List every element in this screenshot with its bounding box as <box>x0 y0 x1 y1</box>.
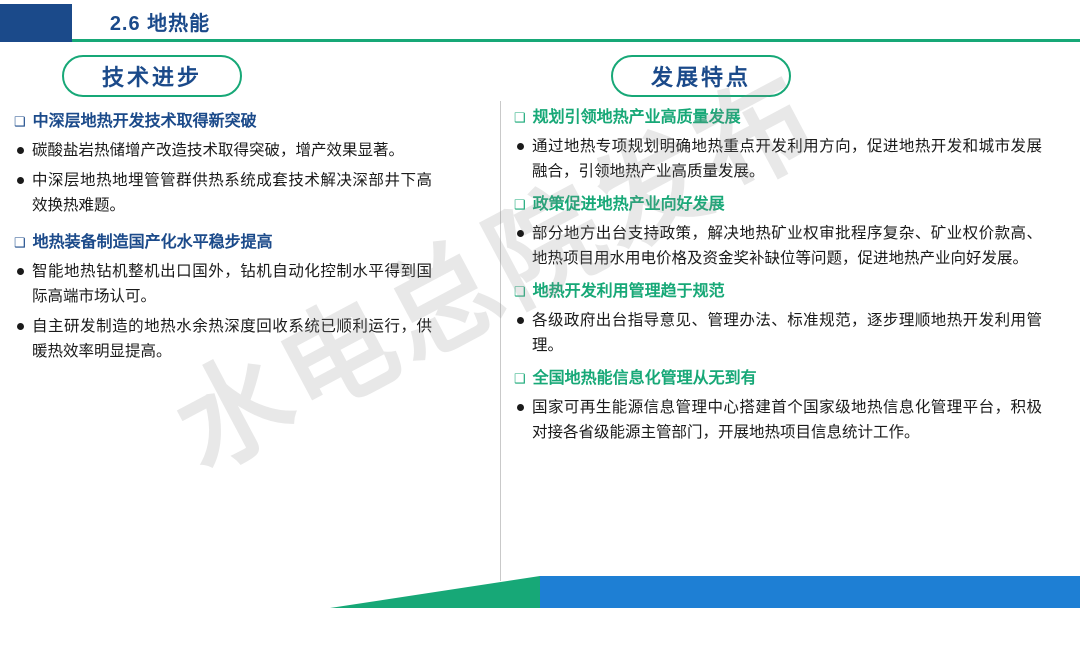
square-bullet-icon: ❑ <box>14 111 26 133</box>
round-bullet-icon <box>17 323 24 330</box>
right-block-4-heading: ❑ 全国地热能信息化管理从无到有 <box>514 368 1066 390</box>
square-bullet-icon: ❑ <box>514 281 526 303</box>
left-block-1-heading: ❑ 中深层地热开发技术取得新突破 <box>14 111 486 133</box>
right-block-4-bullet-1: 国家可再生能源信息管理中心搭建首个国家级地热信息化管理平台，积极对接各省级能源主… <box>532 395 1042 445</box>
round-bullet-icon <box>517 404 524 411</box>
left-block-2-heading: ❑ 地热装备制造国产化水平稳步提高 <box>14 232 486 254</box>
round-bullet-icon <box>517 143 524 150</box>
left-block-1: ❑ 中深层地热开发技术取得新突破 碳酸盐岩热储增产改造技术取得突破，增产效果显著… <box>14 111 486 218</box>
right-block-4-heading-text: 全国地热能信息化管理从无到有 <box>533 368 757 390</box>
left-block-1-bullet-1: 碳酸盐岩热储增产改造技术取得突破，增产效果显著。 <box>32 138 432 163</box>
left-block-1-bullet-2: 中深层地热地埋管管群供热系统成套技术解决深部井下高效换热难题。 <box>32 168 432 218</box>
round-bullet-icon <box>17 147 24 154</box>
right-block-2-bullet-1: 部分地方出台支持政策，解决地热矿业权审批程序复杂、矿业权价款高、地热项目用水用电… <box>532 221 1042 271</box>
list-item: 智能地热钻机整机出口国外，钻机自动化控制水平得到国际高端市场认可。 <box>17 259 486 309</box>
left-section-pill-label: 技术进步 <box>102 60 202 92</box>
list-item: 各级政府出台指导意见、管理办法、标准规范，逐步理顺地热开发利用管理。 <box>517 308 1066 358</box>
header-blue-bar <box>0 4 72 42</box>
round-bullet-icon <box>17 177 24 184</box>
footer-teal-triangle <box>330 576 540 608</box>
round-bullet-icon <box>517 230 524 237</box>
footer-blue-bar <box>540 576 1080 608</box>
right-section-pill: 发展特点 <box>611 55 791 97</box>
list-item: 中深层地热地埋管管群供热系统成套技术解决深部井下高效换热难题。 <box>17 168 486 218</box>
square-bullet-icon: ❑ <box>514 107 526 129</box>
right-block-3-heading: ❑ 地热开发利用管理趋于规范 <box>514 281 1066 303</box>
right-block-2-heading-text: 政策促进地热产业向好发展 <box>533 194 725 216</box>
square-bullet-icon: ❑ <box>14 232 26 254</box>
column-divider <box>500 101 501 581</box>
right-block-1-bullet-1: 通过地热专项规划明确地热重点开发利用方向，促进地热开发和城市发展融合，引领地热产… <box>532 134 1042 184</box>
content-columns: 技术进步 ❑ 中深层地热开发技术取得新突破 碳酸盐岩热储增产改造技术取得突破，增… <box>0 46 1080 576</box>
round-bullet-icon <box>17 268 24 275</box>
left-block-2: ❑ 地热装备制造国产化水平稳步提高 智能地热钻机整机出口国外，钻机自动化控制水平… <box>14 232 486 364</box>
square-bullet-icon: ❑ <box>514 368 526 390</box>
left-block-2-bullet-2: 自主研发制造的地热水余热深度回收系统已顺利运行，供暖热效率明显提高。 <box>32 314 432 364</box>
right-block-3: ❑ 地热开发利用管理趋于规范 各级政府出台指导意见、管理办法、标准规范，逐步理顺… <box>514 281 1066 358</box>
right-block-1-heading: ❑ 规划引领地热产业高质量发展 <box>514 107 1066 129</box>
right-section-pill-label: 发展特点 <box>651 60 751 92</box>
square-bullet-icon: ❑ <box>514 194 526 216</box>
list-item: 部分地方出台支持政策，解决地热矿业权审批程序复杂、矿业权价款高、地热项目用水用电… <box>517 221 1066 271</box>
list-item: 国家可再生能源信息管理中心搭建首个国家级地热信息化管理平台，积极对接各省级能源主… <box>517 395 1066 445</box>
page-header: 2.6 地热能 <box>0 0 1080 46</box>
right-block-1-heading-text: 规划引领地热产业高质量发展 <box>533 107 741 129</box>
page-footer <box>0 576 1080 608</box>
right-block-1: ❑ 规划引领地热产业高质量发展 通过地热专项规划明确地热重点开发利用方向，促进地… <box>514 107 1066 184</box>
list-item: 自主研发制造的地热水余热深度回收系统已顺利运行，供暖热效率明显提高。 <box>17 314 486 364</box>
left-block-1-heading-text: 中深层地热开发技术取得新突破 <box>33 111 257 133</box>
round-bullet-icon <box>517 317 524 324</box>
right-block-3-bullet-1: 各级政府出台指导意见、管理办法、标准规范，逐步理顺地热开发利用管理。 <box>532 308 1042 358</box>
left-block-2-heading-text: 地热装备制造国产化水平稳步提高 <box>33 232 273 254</box>
right-column: 发展特点 ❑ 规划引领地热产业高质量发展 通过地热专项规划明确地热重点开发利用方… <box>500 46 1080 576</box>
right-block-2: ❑ 政策促进地热产业向好发展 部分地方出台支持政策，解决地热矿业权审批程序复杂、… <box>514 194 1066 271</box>
list-item: 碳酸盐岩热储增产改造技术取得突破，增产效果显著。 <box>17 138 486 163</box>
header-green-rule <box>248 39 1080 42</box>
right-block-4: ❑ 全国地热能信息化管理从无到有 国家可再生能源信息管理中心搭建首个国家级地热信… <box>514 368 1066 445</box>
page-title: 2.6 地热能 <box>110 7 210 36</box>
left-section-pill: 技术进步 <box>62 55 242 97</box>
left-block-2-bullet-1: 智能地热钻机整机出口国外，钻机自动化控制水平得到国际高端市场认可。 <box>32 259 432 309</box>
left-column: 技术进步 ❑ 中深层地热开发技术取得新突破 碳酸盐岩热储增产改造技术取得突破，增… <box>0 46 500 576</box>
right-block-2-heading: ❑ 政策促进地热产业向好发展 <box>514 194 1066 216</box>
right-block-3-heading-text: 地热开发利用管理趋于规范 <box>533 281 725 303</box>
header-title-box: 2.6 地热能 <box>72 4 248 42</box>
list-item: 通过地热专项规划明确地热重点开发利用方向，促进地热开发和城市发展融合，引领地热产… <box>517 134 1066 184</box>
